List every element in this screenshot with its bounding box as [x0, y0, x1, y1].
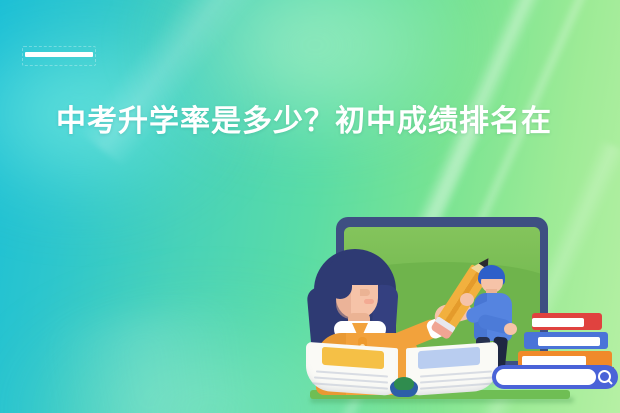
blue-book-pages: [538, 337, 600, 346]
education-illustration: [300, 195, 620, 413]
education-banner: 中考升学率是多少？初中成绩排名在: [0, 0, 620, 413]
page-title: 中考升学率是多少？初中成绩排名在: [56, 100, 620, 144]
search-icon-handle[interactable]: [607, 379, 613, 385]
open-book: [306, 341, 502, 403]
title-divider: [22, 46, 96, 66]
red-book-pages: [532, 318, 584, 327]
teacher-hair-fringe: [326, 261, 352, 299]
student-hand-upper: [460, 293, 474, 306]
divider-bar: [25, 52, 93, 57]
teacher-nose: [360, 289, 370, 296]
search-bar[interactable]: [492, 365, 618, 389]
teacher-cheek: [364, 299, 374, 304]
search-input[interactable]: [496, 369, 596, 385]
student-hair-top: [479, 266, 505, 279]
student-hand-lower: [504, 323, 517, 335]
light-streak: [40, 302, 255, 413]
open-book-spine-inner: [394, 377, 414, 390]
